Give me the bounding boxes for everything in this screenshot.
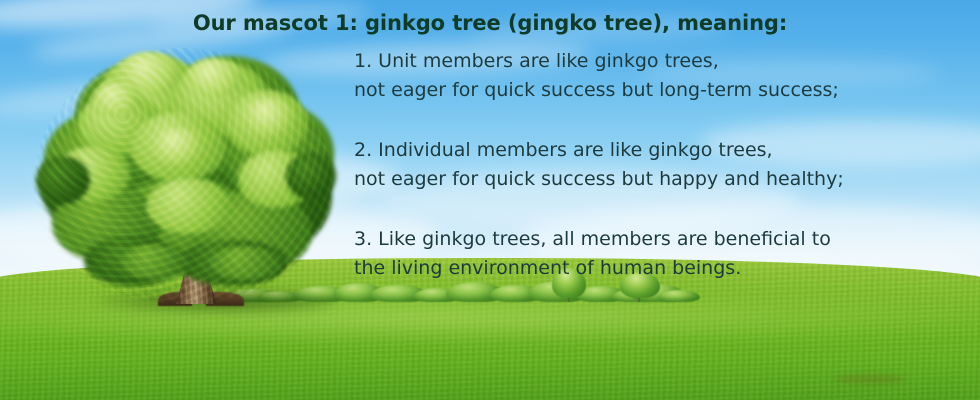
paragraph-point-1: 1. Unit members are like ginkgo trees, n… — [354, 47, 839, 105]
text-overlay: Our mascot 1: ginkgo tree (gingko tree),… — [0, 0, 980, 400]
paragraph-line: not eager for quick success but long-ter… — [354, 76, 839, 105]
mascot-banner: Our mascot 1: ginkgo tree (gingko tree),… — [0, 0, 980, 400]
paragraph-line: 1. Unit members are like ginkgo trees, — [354, 47, 839, 76]
headline: Our mascot 1: ginkgo tree (gingko tree),… — [0, 11, 980, 35]
paragraph-point-2: 2. Individual members are like ginkgo tr… — [354, 136, 844, 194]
paragraph-line: 2. Individual members are like ginkgo tr… — [354, 136, 844, 165]
paragraph-point-3: 3. Like ginkgo trees, all members are be… — [354, 225, 831, 283]
paragraph-line: not eager for quick success but happy an… — [354, 165, 844, 194]
paragraph-line: the living environment of human beings. — [354, 254, 831, 283]
paragraph-line: 3. Like ginkgo trees, all members are be… — [354, 225, 831, 254]
